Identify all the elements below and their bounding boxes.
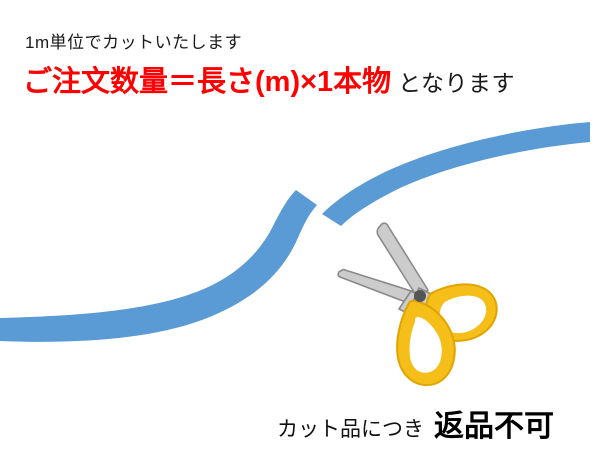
rope-left-segment	[0, 190, 317, 342]
scissors-icon	[338, 223, 497, 385]
rope-right-segment	[322, 122, 590, 226]
cut-service-notice-graphic: 1m単位でカットいたします ご注文数量＝長さ(m)×1本物となります カット品に…	[0, 0, 600, 466]
illustration	[0, 0, 600, 466]
scissors-pivot	[414, 290, 426, 302]
